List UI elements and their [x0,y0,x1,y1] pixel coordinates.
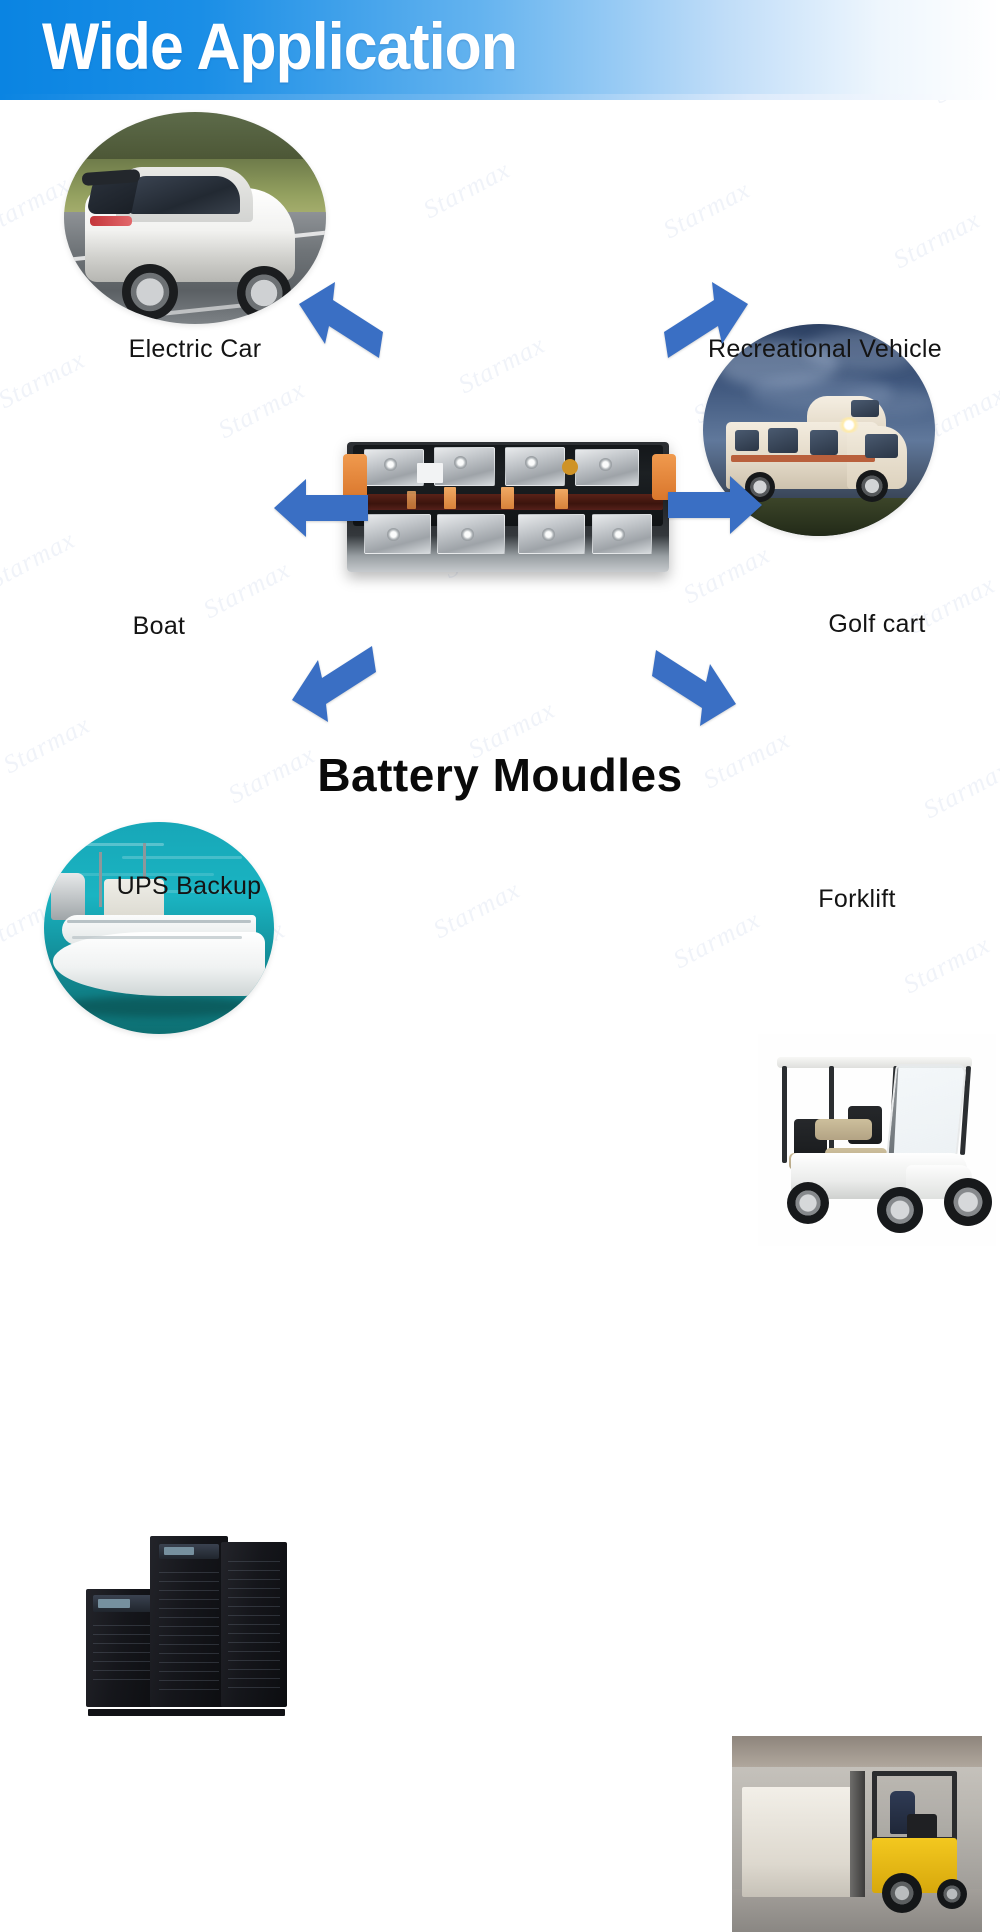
page-title: Wide Application [42,8,517,84]
arrow-to-golf-cart [666,472,764,538]
arrow-to-boat [272,475,370,541]
watermark-text: Starmax [888,205,985,275]
arrow-to-forklift [648,648,740,732]
watermark-text: Starmax [213,375,310,445]
caption-ups-backup: UPS Backup [66,872,312,901]
caption-electric-car: Electric Car [64,335,326,364]
watermark-text: Starmax [668,905,765,975]
battery-module-photo [340,410,676,586]
watermark-text: Starmax [0,525,80,595]
watermark-text: Starmax [418,155,515,225]
arrow-to-ups-backup [288,644,380,728]
watermark-text: Starmax [453,330,550,400]
watermark-text: Starmax [658,175,755,245]
watermark-text: Starmax [898,930,995,1000]
ups-backup-photo [66,1508,312,1720]
watermark-text: Starmax [678,540,775,610]
forklift-photo [732,1736,982,1932]
caption-golf-cart: Golf cart [758,610,996,639]
electric-car-photo [64,112,326,324]
header-divider [0,94,1000,100]
arrow-to-electric-car [295,278,387,362]
arrow-to-recreational-vehicle [660,278,752,362]
watermark-text: Starmax [428,875,525,945]
center-label: Battery Moudles [0,748,1000,802]
golf-cart-photo [758,1034,996,1246]
caption-boat: Boat [44,612,274,641]
page-header: Wide Application [0,0,1000,94]
boat-photo [44,822,274,1034]
caption-forklift: Forklift [732,885,982,914]
